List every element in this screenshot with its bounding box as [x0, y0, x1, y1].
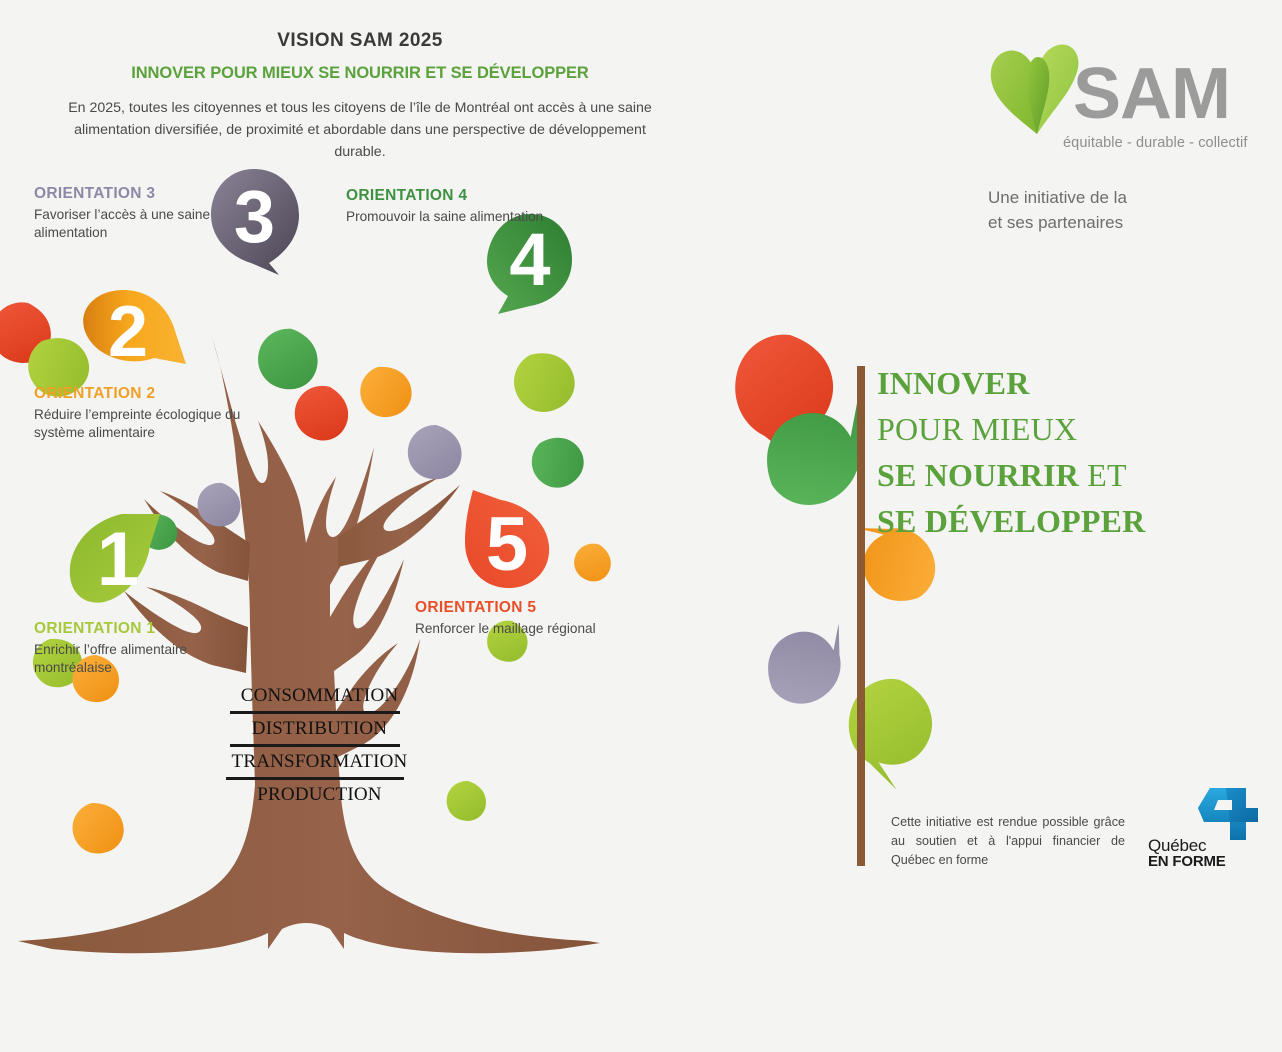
qef-line-2: EN FORME	[1148, 854, 1260, 870]
header-slogan: INNOVER POUR MIEUX SE NOURRIR ET SE DÉVE…	[60, 64, 660, 83]
funding-note: Cette initiative est rendue possible grâ…	[891, 813, 1125, 870]
trunk-label-transformation: TRANSFORMATION	[222, 749, 417, 775]
orientation-desc-4: Promouvoir la saine alimentation	[346, 208, 546, 226]
badge-number-5: 5	[461, 484, 553, 590]
orientation-title-2: ORIENTATION 2	[34, 385, 264, 403]
infographic-canvas: 3 2 4 5	[0, 0, 1282, 902]
quebec-en-forme-logo: Québec EN FORME	[1148, 786, 1260, 870]
slogan-line-3-bold: SE NOURRIR	[877, 457, 1079, 493]
badge-number-4: 4	[482, 212, 574, 316]
cre-line-2: et ses partenaires	[988, 211, 1268, 236]
trunk-divider-3	[226, 777, 404, 780]
slogan-line-2-light: POUR MIEUX	[877, 411, 1077, 447]
trunk-divider-1	[230, 711, 400, 714]
orientation-desc-3: Favoriser l’accès à une saine alimentati…	[34, 206, 244, 243]
orientation-label-4: ORIENTATION 4 Promouvoir la saine alimen…	[346, 187, 546, 226]
orientation-label-2: ORIENTATION 2 Réduire l’empreinte écolog…	[34, 385, 264, 443]
orientation-badge-4[interactable]: 4	[482, 212, 574, 316]
sam-wordmark: SAM	[1073, 58, 1230, 130]
quebec-en-forme-wordmark: Québec EN FORME	[1148, 837, 1260, 870]
orientation-title-5: ORIENTATION 5	[415, 599, 645, 617]
slogan-line-4: SE DÉVELOPPER	[877, 498, 1207, 544]
trunk-divider-2	[230, 744, 400, 747]
right-slogan: INNOVER POUR MIEUX SE NOURRIR ET SE DÉVE…	[877, 360, 1207, 544]
trunk-label-production: PRODUCTION	[222, 782, 417, 808]
quebec-en-forme-mark-icon	[1196, 786, 1258, 840]
orientation-badge-2[interactable]: 2	[76, 288, 188, 380]
orientation-title-1: ORIENTATION 1	[34, 620, 244, 638]
orientation-title-3: ORIENTATION 3	[34, 185, 244, 203]
sam-tagline: équitable - durable - collectif	[1063, 135, 1263, 151]
slogan-line-4-bold: SE DÉVELOPPER	[877, 503, 1145, 539]
qef-line-1: Québec	[1148, 837, 1260, 854]
slogan-line-2: POUR MIEUX	[877, 406, 1207, 452]
cre-line-1: Une initiative de la	[988, 186, 1268, 211]
trunk-label-consommation: CONSOMMATION	[222, 683, 417, 709]
slogan-line-1: INNOVER	[877, 360, 1207, 406]
orientation-label-5: ORIENTATION 5 Renforcer le maillage régi…	[415, 599, 645, 638]
slogan-line-3: SE NOURRIR ET	[877, 452, 1207, 498]
orientation-label-1: ORIENTATION 1 Enrichir l’offre alimentai…	[34, 620, 244, 678]
orientation-badge-1[interactable]: 1	[66, 506, 164, 606]
orientation-desc-2: Réduire l’empreinte écologique du systèm…	[34, 406, 264, 443]
orientation-label-3: ORIENTATION 3 Favoriser l’accès à une sa…	[34, 185, 244, 243]
badge-number-1: 1	[66, 506, 164, 606]
orientation-desc-1: Enrichir l’offre alimentaire montréalais…	[34, 641, 244, 678]
cre-credit-block: Une initiative de la et ses partenaires …	[988, 186, 1268, 235]
vertical-divider	[857, 366, 865, 866]
page-title: VISION SAM 2025	[60, 30, 660, 52]
header-block: VISION SAM 2025 INNOVER POUR MIEUX SE NO…	[60, 30, 660, 163]
badge-number-2: 2	[76, 288, 188, 380]
orientation-desc-5: Renforcer le maillage régional	[415, 620, 645, 638]
trunk-label-distribution: DISTRIBUTION	[222, 716, 417, 742]
trunk-label-stack: CONSOMMATION DISTRIBUTION TRANSFORMATION…	[222, 683, 417, 808]
orientation-title-4: ORIENTATION 4	[346, 187, 546, 205]
orientation-badge-5[interactable]: 5	[461, 484, 553, 590]
header-body-text: En 2025, toutes les citoyennes et tous l…	[60, 97, 660, 163]
slogan-line-1-bold: INNOVER	[877, 365, 1030, 401]
slogan-line-3-light: ET	[1079, 457, 1127, 493]
